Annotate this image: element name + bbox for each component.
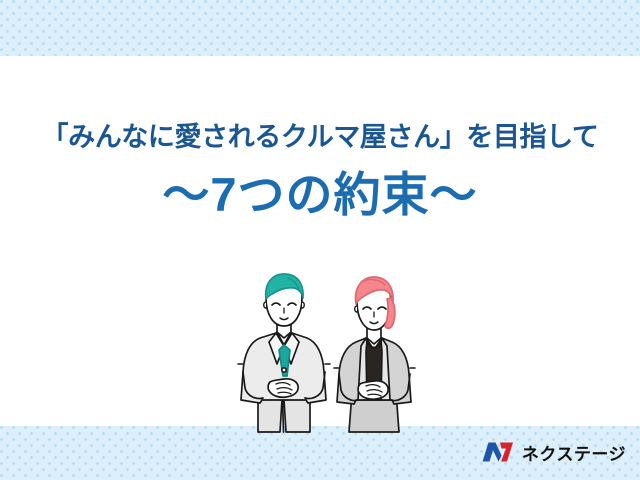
headline-line-2: 〜7つの約束〜 [0,166,640,224]
two-people-bowing-illustration [236,272,430,434]
slide-canvas: 「みんなに愛されるクルマ屋さん」を目指して 〜7つの約束〜 [0,0,640,480]
top-dotted-band [0,0,640,56]
figure-woman [334,277,415,432]
nextage-n-mark-icon [481,440,515,469]
headline-line-1: 「みんなに愛されるクルマ屋さん」を目指して [0,118,640,156]
figure-man [238,274,330,432]
headline-block: 「みんなに愛されるクルマ屋さん」を目指して 〜7つの約束〜 [0,118,640,224]
brand-logo-text: ネクステージ [522,446,626,463]
brand-logo: ネクステージ [481,440,626,468]
